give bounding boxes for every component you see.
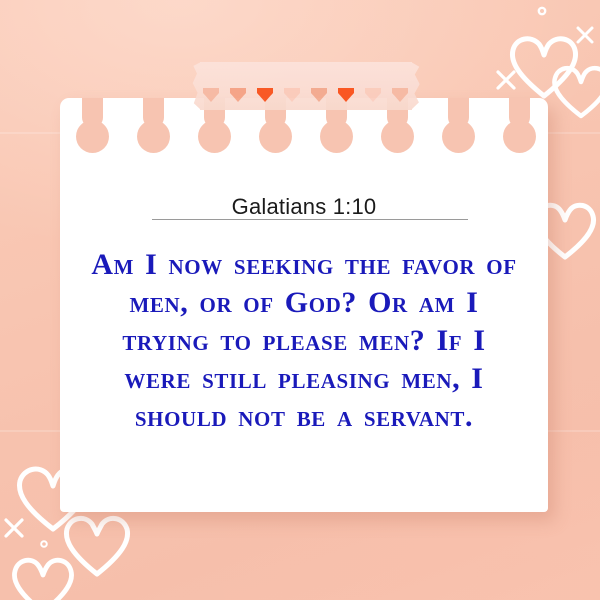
punch-hole-1 [82, 98, 103, 128]
verse-reference-container: Galatians 1:10 [60, 194, 548, 220]
verse-text: Am I now seeking the favor of men, or of… [86, 246, 522, 436]
punch-hole-2 [143, 98, 164, 128]
note-card: Galatians 1:10 Am I now seeking the favo… [60, 98, 548, 512]
tape-heart-1 [200, 83, 222, 103]
verse-reference: Galatians 1:10 [232, 194, 377, 219]
tape-heart-6 [335, 83, 357, 103]
tape-heart-3 [254, 83, 276, 103]
tape-heart-4 [281, 83, 303, 103]
scripture-image-canvas: Galatians 1:10 Am I now seeking the favo… [0, 0, 600, 600]
verse-divider-rule [152, 219, 468, 220]
punch-hole-7 [448, 98, 469, 128]
tape-heart-5 [308, 83, 330, 103]
tape-heart-2 [227, 83, 249, 103]
washi-tape [200, 62, 412, 110]
tape-heart-8 [389, 83, 411, 103]
tape-heart-7 [362, 83, 384, 103]
punch-hole-8 [509, 98, 530, 128]
tape-heart-strip [200, 78, 412, 108]
